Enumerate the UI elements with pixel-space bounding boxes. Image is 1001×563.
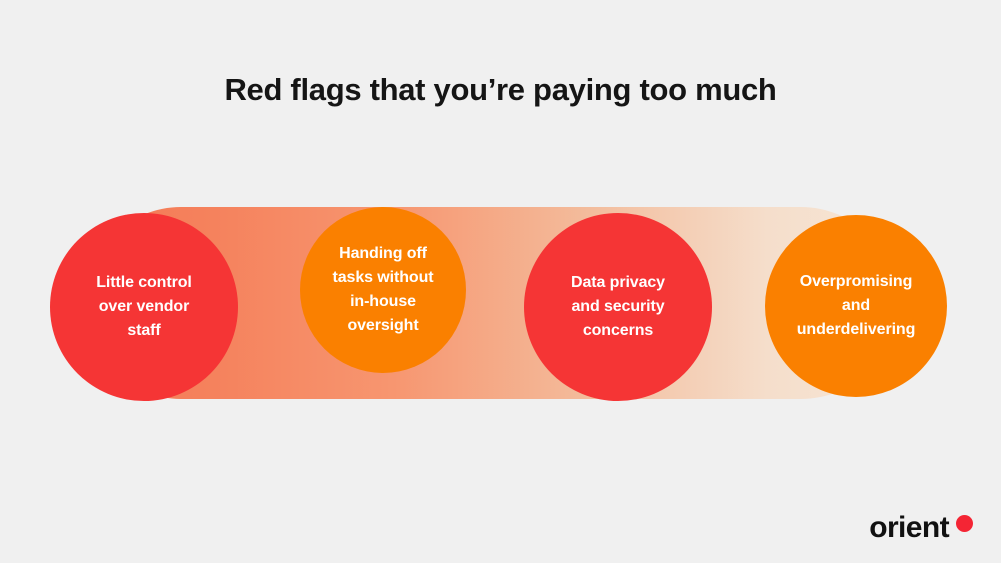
red-flag-label-1: Little control over vendor staff xyxy=(88,271,199,343)
red-flag-circle-2: Handing off tasks without in-house overs… xyxy=(300,207,466,373)
logo-dot-icon xyxy=(956,515,973,532)
slide-canvas: Red flags that you’re paying too much Li… xyxy=(0,0,1001,563)
red-flag-label-4: Overpromising and underdelivering xyxy=(789,270,924,342)
red-flag-circle-3: Data privacy and security concerns xyxy=(524,213,712,401)
page-title: Red flags that you’re paying too much xyxy=(0,68,1001,112)
logo-wordmark: orient xyxy=(869,513,949,543)
red-flag-label-2: Handing off tasks without in-house overs… xyxy=(325,242,442,338)
red-flag-circle-4: Overpromising and underdelivering xyxy=(765,215,947,397)
red-flag-label-3: Data privacy and security concerns xyxy=(563,271,673,343)
orient-logo: orient xyxy=(869,513,973,543)
red-flag-circle-1: Little control over vendor staff xyxy=(50,213,238,401)
